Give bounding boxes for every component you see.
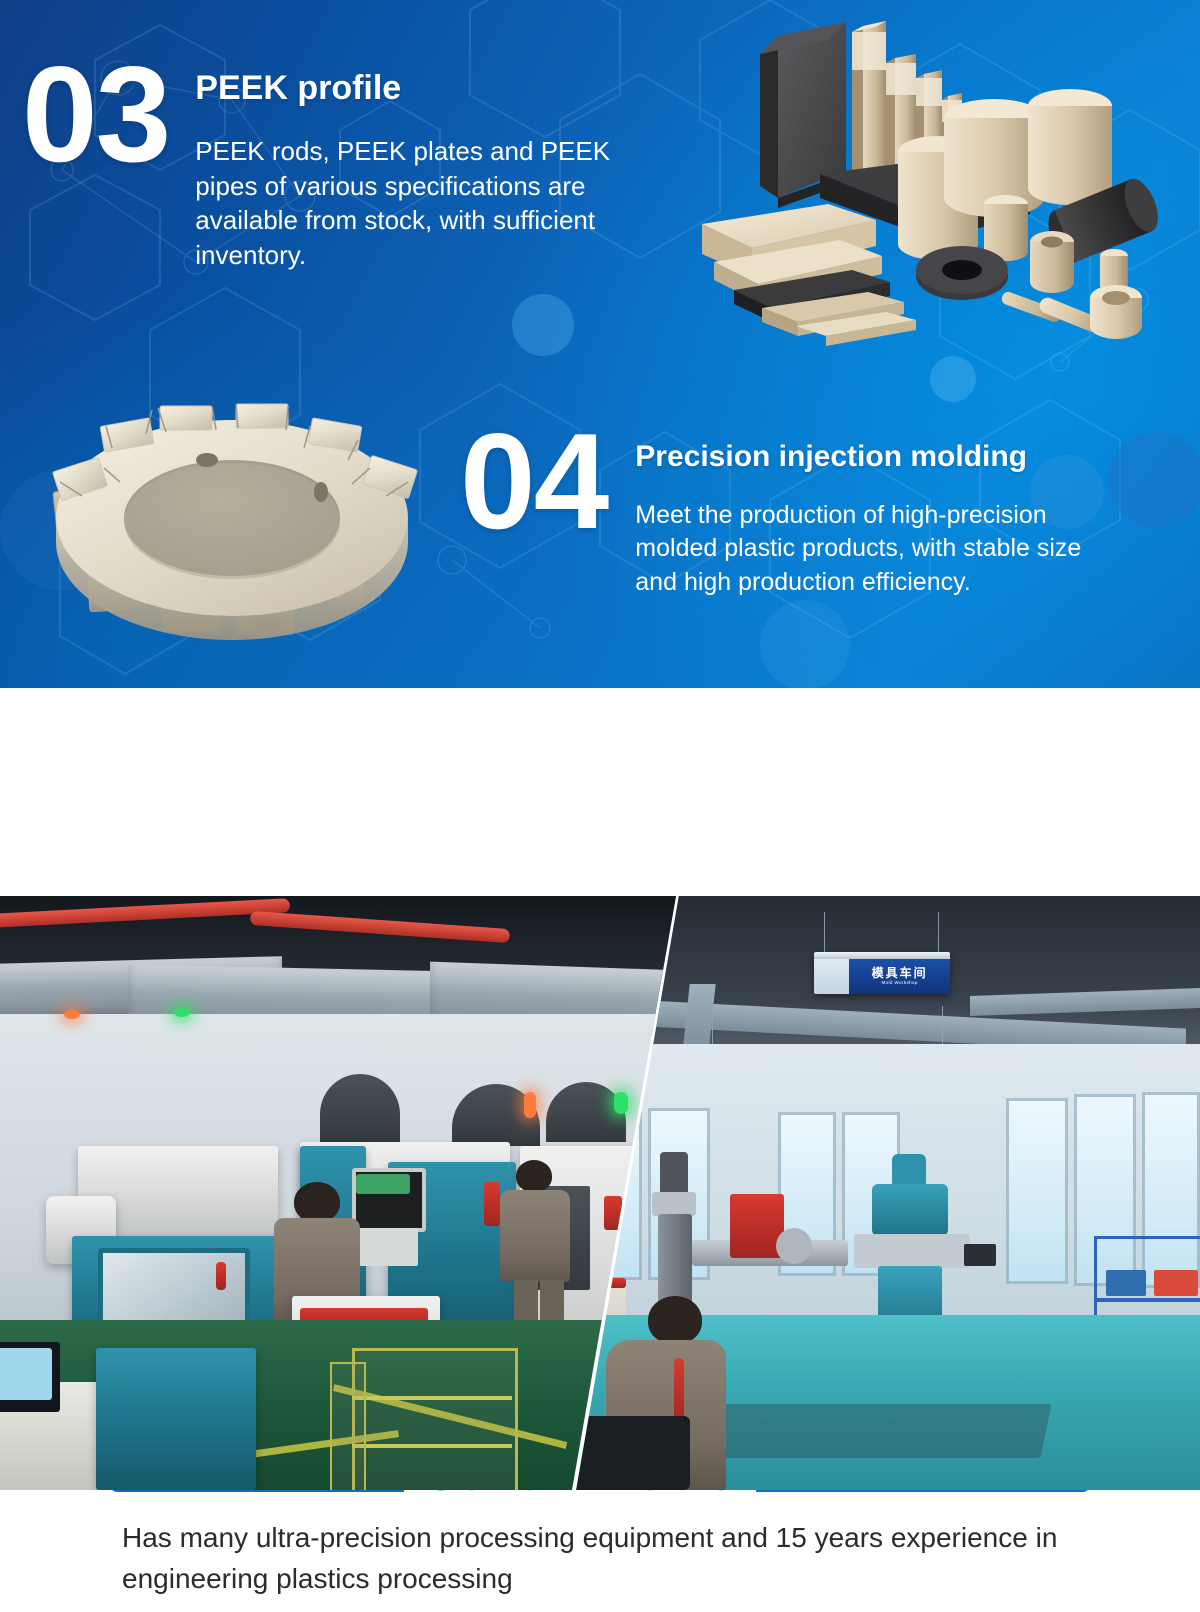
orange-indicator-lamp [64,1010,80,1019]
drill-wheel [776,1228,812,1264]
rack-leg [330,1362,366,1490]
strengths-banner-section: OUR STRENGTHS [0,688,1200,896]
mill-head [872,1184,948,1236]
bokeh-circle [930,356,976,402]
drill-head [652,1192,696,1216]
drill-motor [660,1152,688,1196]
hero-section: 03 PEEK profile PEEK rods, PEEK plates a… [0,0,1200,688]
workshop-photos-section: 模具车间 Mold Workshop [0,896,1200,1490]
caption-text: Has many ultra-precision processing equi… [0,1492,1200,1599]
feature-block-04: 04 Precision injection molding Meet the … [460,422,1115,624]
screen-content [356,1174,410,1194]
machine-marker [604,1196,622,1230]
green-indicator-lamp [614,1092,628,1114]
sign-text-english: Mold Workshop [881,981,917,986]
window [1006,1098,1068,1284]
bokeh-circle [512,294,574,356]
cnc-machining-workshop-photo [0,896,676,1490]
mill-display [964,1244,996,1266]
feature-body-04: Meet the production of high-precision mo… [635,499,1115,599]
machine-handle [216,1262,226,1290]
feature-title-04: Precision injection molding [635,440,1115,474]
worker-person [500,1160,572,1340]
green-indicator-lamp [174,1008,190,1017]
machine-arch [320,1074,400,1144]
machine-cabinet [96,1348,256,1490]
storage-bin [1154,1270,1198,1296]
metal-shelf-rack [352,1348,518,1490]
peek-rods-plates-pipes-photo [700,8,1170,348]
monitor-screen [0,1348,52,1400]
promo-page: 03 PEEK profile PEEK rods, PEEK plates a… [0,0,1200,1612]
storage-bin [1106,1270,1146,1296]
shelf-bar [1094,1298,1200,1302]
bokeh-circle [1108,432,1200,528]
peek-gear-ring-photo [40,378,430,668]
feature-title-03: PEEK profile [195,69,625,108]
chair [570,1416,690,1490]
feature-block-03: 03 PEEK profile PEEK rods, PEEK plates a… [22,55,625,298]
shelf-bar [352,1444,512,1448]
mill-motor [892,1154,926,1188]
mold-workshop-sign: 模具车间 Mold Workshop [814,952,950,994]
mold-workshop-photo: 模具车间 Mold Workshop [566,896,1200,1490]
mill-ram [854,1234,970,1268]
emergency-stop [484,1182,500,1226]
feature-number-03: 03 [22,55,169,175]
feature-body-03: PEEK rods, PEEK plates and PEEK pipes of… [195,134,625,272]
sign-logo-panel [814,959,849,994]
caption-section: Has many ultra-precision processing equi… [0,1492,1200,1612]
feature-number-04: 04 [460,422,607,542]
shelf-bar [352,1396,512,1400]
orange-indicator-lamp [524,1092,536,1118]
sign-text-panel: 模具车间 Mold Workshop [849,959,950,994]
sign-text-chinese: 模具车间 [872,967,928,979]
sign-frame [814,952,950,959]
